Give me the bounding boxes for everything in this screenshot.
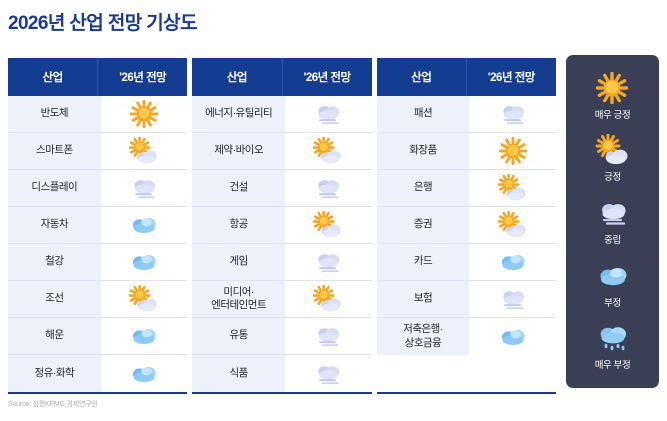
outlook-icon-cell — [285, 318, 372, 354]
cloud-fog-icon — [312, 248, 344, 276]
outlook-icon-cell — [101, 318, 188, 354]
outlook-icon-cell — [285, 96, 372, 132]
outlook-icon-cell — [101, 207, 188, 243]
industry-name-cell: 제약·바이오 — [192, 133, 285, 169]
industry-name-cell: 스마트폰 — [8, 133, 101, 169]
legend-item: 중립 — [595, 197, 631, 246]
industry-name-cell: 은행 — [377, 170, 470, 206]
industry-name-cell: 증권 — [377, 207, 470, 243]
table-row[interactable]: 에너지·유틸리티 — [192, 96, 371, 133]
table-row[interactable]: 조선 — [8, 281, 187, 318]
legend-item: 매우 긍정 — [595, 72, 631, 121]
legend-item-label: 중립 — [604, 232, 621, 246]
cloud-fog-icon — [312, 322, 344, 350]
column-header-industry: 산업 — [192, 58, 282, 96]
table-row[interactable]: 제약·바이오 — [192, 133, 371, 170]
legend-item-label: 긍정 — [604, 169, 621, 183]
industry-name-cell: 항공 — [192, 207, 285, 243]
industry-name-cell: 디스플레이 — [8, 170, 101, 206]
industry-name-cell: 화장품 — [377, 133, 470, 169]
legend-item-label: 매우 부정 — [595, 357, 631, 371]
table-row[interactable]: 게임 — [192, 244, 371, 281]
page-title: 2026년 산업 전망 기상도 — [8, 8, 197, 35]
outlook-icon-cell — [469, 281, 556, 317]
blue-cloud-icon — [497, 323, 529, 351]
industry-name-cell: 보험 — [377, 281, 470, 317]
outlook-table: 산업'26년 전망반도체 스마트폰 디스플레이 — [8, 58, 187, 394]
outlook-icon-cell — [285, 244, 372, 280]
cloud-fog-icon — [312, 174, 344, 202]
outlook-icon-cell — [285, 355, 372, 392]
industry-name-cell: 철강 — [8, 244, 101, 280]
table-row[interactable]: 유통 — [192, 318, 371, 355]
outlook-icon-cell — [101, 355, 188, 392]
table-header-row: 산업'26년 전망 — [377, 58, 556, 96]
table-row[interactable]: 패션 — [377, 96, 556, 133]
outlook-icon-cell — [101, 96, 188, 132]
outlook-icon-cell — [101, 133, 188, 169]
cloud-fog-icon — [497, 100, 529, 128]
blue-cloud-icon — [128, 322, 160, 350]
table-row[interactable]: 카드 — [377, 244, 556, 281]
outlook-icon-cell — [101, 244, 188, 280]
column-header-outlook: '26년 전망 — [283, 58, 372, 96]
legend-item-label: 부정 — [604, 295, 621, 309]
blue-cloud-icon — [128, 211, 160, 239]
table-row[interactable]: 식품 — [192, 355, 371, 392]
outlook-tables-container: 산업'26년 전망반도체 스마트폰 디스플레이 — [8, 58, 556, 394]
table-row[interactable]: 은행 — [377, 170, 556, 207]
table-header-row: 산업'26년 전망 — [8, 58, 187, 96]
table-row[interactable]: 저축은행· 상호금융 — [377, 318, 556, 355]
outlook-icon-cell — [285, 281, 372, 317]
legend-item: 부정 — [595, 260, 631, 309]
sun-behind-cloud-icon — [128, 285, 160, 313]
industry-name-cell: 건설 — [192, 170, 285, 206]
legend-panel: 매우 긍정 긍정 중립 — [566, 55, 659, 388]
legend-item: 긍정 — [595, 134, 631, 183]
sun-behind-cloud-icon — [128, 137, 160, 165]
industry-name-cell: 카드 — [377, 244, 470, 280]
blue-cloud-icon — [497, 248, 529, 276]
table-row[interactable]: 반도체 — [8, 96, 187, 133]
source-note: Source: 삼정KPMG 경제연구원 — [8, 399, 98, 409]
industry-name-cell: 에너지·유틸리티 — [192, 96, 285, 132]
table-row[interactable]: 항공 — [192, 207, 371, 244]
rain-cloud-icon — [595, 322, 631, 354]
cloud-fog-icon — [595, 197, 631, 229]
sun-behind-cloud-icon — [312, 137, 344, 165]
outlook-icon-cell — [469, 133, 556, 169]
table-row[interactable]: 화장품 — [377, 133, 556, 170]
table-row[interactable]: 디스플레이 — [8, 170, 187, 207]
industry-name-cell: 게임 — [192, 244, 285, 280]
blue-cloud-icon — [128, 248, 160, 276]
industry-name-cell: 미디어· 엔터테인먼트 — [192, 281, 285, 317]
sun-behind-cloud-icon — [312, 211, 344, 239]
sun-icon — [499, 137, 527, 165]
industry-name-cell: 식품 — [192, 355, 285, 392]
industry-name-cell: 정유·화학 — [8, 355, 101, 392]
industry-name-cell: 저축은행· 상호금융 — [377, 318, 470, 355]
cloud-fog-icon — [312, 100, 344, 128]
sun-behind-cloud-icon — [497, 174, 529, 202]
table-row[interactable]: 자동차 — [8, 207, 187, 244]
industry-name-cell: 자동차 — [8, 207, 101, 243]
cloud-fog-icon — [312, 360, 344, 388]
industry-name-cell: 조선 — [8, 281, 101, 317]
blue-cloud-icon — [595, 260, 631, 292]
column-header-industry: 산업 — [377, 58, 467, 96]
outlook-icon-cell — [469, 96, 556, 132]
outlook-icon-cell — [101, 170, 188, 206]
column-header-outlook: '26년 전망 — [98, 58, 187, 96]
outlook-icon-cell — [469, 318, 556, 355]
industry-name-cell: 유통 — [192, 318, 285, 354]
industry-name-cell: 해운 — [8, 318, 101, 354]
table-row[interactable]: 증권 — [377, 207, 556, 244]
column-header-outlook: '26년 전망 — [467, 58, 556, 96]
outlook-icon-cell — [285, 133, 372, 169]
legend-item-label: 매우 긍정 — [595, 107, 631, 121]
outlook-icon-cell — [101, 281, 188, 317]
table-row[interactable]: 건설 — [192, 170, 371, 207]
sun-behind-cloud-icon — [595, 134, 631, 166]
table-row[interactable]: 보험 — [377, 281, 556, 318]
industry-name-cell: 패션 — [377, 96, 470, 132]
table-row[interactable]: 해운 — [8, 318, 187, 355]
column-header-industry: 산업 — [8, 58, 98, 96]
outlook-icon-cell — [469, 170, 556, 206]
sun-icon — [596, 72, 628, 104]
outlook-icon-cell — [469, 207, 556, 243]
sun-behind-cloud-icon — [312, 285, 344, 313]
outlook-table: 산업'26년 전망패션 화장품 은행 — [377, 58, 556, 394]
table-row[interactable]: 미디어· 엔터테인먼트 — [192, 281, 371, 318]
cloud-fog-icon — [128, 174, 160, 202]
table-row[interactable]: 철강 — [8, 244, 187, 281]
sun-icon — [130, 100, 158, 128]
table-header-row: 산업'26년 전망 — [192, 58, 371, 96]
outlook-icon-cell — [469, 244, 556, 280]
table-row[interactable]: 정유·화학 — [8, 355, 187, 392]
outlook-icon-cell — [285, 170, 372, 206]
outlook-icon-cell — [285, 207, 372, 243]
cloud-fog-icon — [497, 285, 529, 313]
industry-name-cell: 반도체 — [8, 96, 101, 132]
blue-cloud-icon — [128, 360, 160, 388]
sun-behind-cloud-icon — [497, 211, 529, 239]
outlook-table: 산업'26년 전망에너지·유틸리티 제약·바이오 건설 — [192, 58, 371, 394]
table-row[interactable]: 스마트폰 — [8, 133, 187, 170]
legend-item: 매우 부정 — [595, 322, 631, 371]
